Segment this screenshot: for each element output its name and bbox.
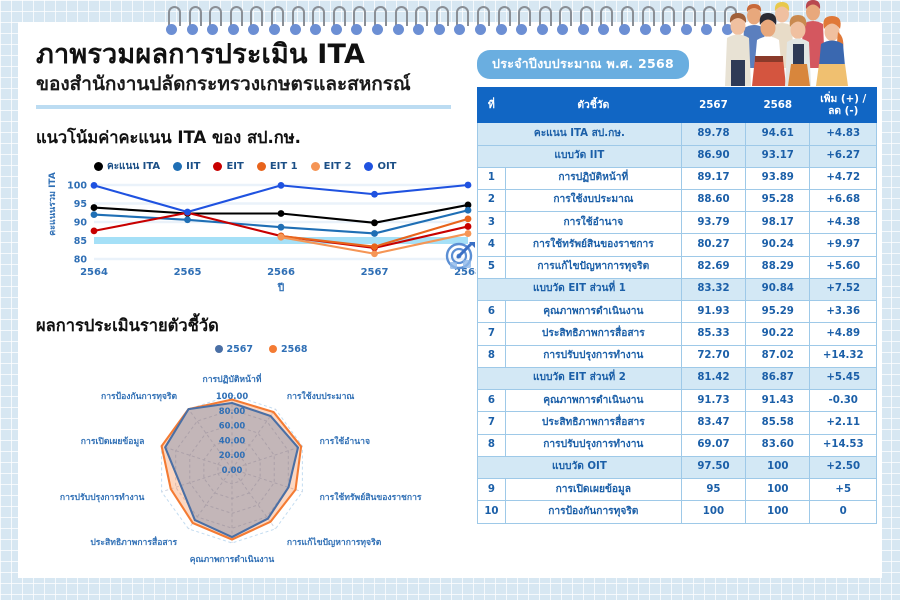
spiral-coil [618,0,639,40]
table-row[interactable]: 1การปฏิบัติหน้าที่89.1793.89+4.72 [478,167,877,189]
spiral-coil [556,0,577,40]
spiral-binding [165,0,745,40]
row-value-2568: 90.24 [746,234,810,256]
radar-axis-label: การใช้อำนาจ [320,436,370,447]
row-number: 1 [478,167,506,189]
y-tick-label: 100 [67,181,87,192]
row-value-2567: 80.27 [681,234,745,256]
row-value-2567: 85.33 [681,323,745,345]
legend-label: 2568 [281,344,307,355]
spiral-coil [165,0,186,40]
radar-axis-label: ประสิทธิภาพการสื่อสาร [90,535,177,548]
spiral-coil [186,0,207,40]
table-row[interactable]: แบบวัด EIT ส่วนที่ 183.3290.84+7.52 [478,278,877,300]
y-tick-label: 85 [74,236,87,247]
table-row[interactable]: แบบวัด EIT ส่วนที่ 281.4286.87+5.45 [478,367,877,389]
row-value-2567: 95 [681,479,745,501]
row-value-2568: 95.28 [746,189,810,211]
table-row[interactable]: คะแนน ITA สป.กษ.89.7894.61+4.83 [478,123,877,145]
row-value-2567: 69.07 [681,434,745,456]
row-value-diff: +5.60 [810,256,877,278]
row-number: 5 [478,256,506,278]
data-point [465,216,472,223]
row-indicator-name: แบบวัด EIT ส่วนที่ 2 [478,367,682,389]
row-value-2568: 87.02 [746,345,810,367]
spiral-coil [495,0,516,40]
line-chart-legend: คะแนน ITAIITEITEIT 1EIT 2OIT [36,157,476,175]
row-value-2567: 100 [681,501,745,523]
radar-axis-label: การป้องกันการทุจริต [101,391,177,402]
row-indicator-name: การแก้ไขปัญหาการทุจริต [505,256,681,278]
column-header-2567: 2567 [681,88,745,123]
legend-swatch [215,345,223,353]
row-value-2568: 100 [746,456,810,478]
diff-label-line2: ลด (-) [828,105,858,117]
radar-axis-label: การใช้ทรัพย์สินของราชการ [320,492,422,503]
legend-item-EIT-1[interactable]: EIT 1 [257,161,298,172]
column-header-2568: 2568 [746,88,810,123]
diff-label-line1: เพิ่ม (+) / [820,93,866,105]
legend-swatch [311,162,320,171]
data-point [465,223,472,230]
row-value-2567: 83.47 [681,412,745,434]
row-value-2568: 91.43 [746,390,810,412]
data-point [465,230,472,237]
data-point [371,243,378,250]
row-value-2567: 97.50 [681,456,745,478]
legend-item-OIT[interactable]: OIT [364,161,396,172]
row-indicator-name: การปรับปรุงการทำงาน [505,434,681,456]
spiral-coil [659,0,680,40]
data-point [91,228,98,235]
legend-label: คะแนน ITA [107,159,160,174]
row-value-2568: 100 [746,501,810,523]
row-indicator-name: แบบวัด OIT [478,456,682,478]
data-point [91,204,98,211]
spiral-coil [433,0,454,40]
spiral-coil [247,0,268,40]
row-number: 9 [478,479,506,501]
radar-axis-label: การใช้งบประมาณ [287,391,355,402]
row-value-2568: 90.22 [746,323,810,345]
row-value-2568: 93.17 [746,145,810,167]
data-point [278,224,285,231]
row-number: 8 [478,434,506,456]
data-point [371,250,378,257]
spiral-coil [515,0,536,40]
row-indicator-name: คุณภาพการดำเนินงาน [505,390,681,412]
row-indicator-name: การใช้อำนาจ [505,212,681,234]
radar-tick-label: 100.00 [216,391,248,401]
legend-swatch [364,162,373,171]
row-value-2567: 72.70 [681,345,745,367]
row-indicator-name: แบบวัด EIT ส่วนที่ 1 [478,278,682,300]
row-value-2567: 91.73 [681,390,745,412]
row-value-2568: 98.17 [746,212,810,234]
y-tick-label: 80 [74,255,88,266]
spiral-coil [330,0,351,40]
table-row[interactable]: 10การป้องกันการทุจริต1001000 [478,501,877,523]
row-value-diff: +4.89 [810,323,877,345]
spiral-coil [350,0,371,40]
spiral-coil [700,0,721,40]
radar-tick-label: 20.00 [219,450,246,460]
spiral-coil [474,0,495,40]
x-tick-label: 2564 [80,267,108,278]
radar-tick-label: 0.00 [222,465,243,475]
radar-tick-label: 60.00 [219,421,246,431]
spiral-coil [536,0,557,40]
table-row[interactable]: 2การใช้งบประมาณ88.6095.28+6.68 [478,189,877,211]
row-value-2567: 88.60 [681,189,745,211]
legend-swatch [94,162,103,171]
table-row[interactable]: 7ประสิทธิภาพการสื่อสาร85.3390.22+4.89 [478,323,877,345]
data-point [278,182,285,189]
row-value-2567: 89.78 [681,123,745,145]
row-value-2568: 86.87 [746,367,810,389]
data-point [465,182,472,189]
radar-axis-label: คุณภาพการดำเนินงาน [190,554,275,565]
radar-axis-label: การปรับปรุงการทำงาน [60,492,145,503]
radar-chart-heading: ผลการประเมินรายตัวชี้วัด [36,313,476,339]
row-value-diff: +4.38 [810,212,877,234]
row-value-diff: +4.83 [810,123,877,145]
line-series-OIT [94,185,468,212]
fiscal-year-badge: ประจำปีงบประมาณ พ.ศ. 2568 [477,50,689,79]
data-point [371,191,378,198]
title-divider [36,105,451,109]
row-value-2567: 82.69 [681,256,745,278]
legend-item-EIT-2[interactable]: EIT 2 [311,161,352,172]
row-value-diff: +6.27 [810,145,877,167]
row-value-2567: 86.90 [681,145,745,167]
spiral-coil [371,0,392,40]
row-value-diff: +3.36 [810,301,877,323]
legend-item-EIT[interactable]: EIT [213,161,243,172]
row-number: 10 [478,501,506,523]
row-indicator-name: คะแนน ITA สป.กษ. [478,123,682,145]
radar-axis-label: การเปิดเผยข้อมูล [81,436,145,447]
row-indicator-name: การใช้ทรัพย์สินของราชการ [505,234,681,256]
row-value-diff: +2.50 [810,456,877,478]
data-point [184,216,191,223]
table-body: คะแนน ITA สป.กษ.89.7894.61+4.83แบบวัด II… [478,123,877,523]
legend-label: 2567 [227,344,253,355]
data-point [371,230,378,237]
spiral-coil [597,0,618,40]
data-point [465,207,472,214]
row-indicator-name: ประสิทธิภาพการสื่อสาร [505,323,681,345]
people-illustration [720,0,890,86]
row-value-2568: 95.29 [746,301,810,323]
spiral-coil [309,0,330,40]
legend-item-คะแนน-ITA[interactable]: คะแนน ITA [94,159,160,174]
spiral-coil [639,0,660,40]
row-value-diff: +2.11 [810,412,877,434]
spiral-coil [577,0,598,40]
table-row[interactable]: 6คุณภาพการดำเนินงาน91.7391.43-0.30 [478,390,877,412]
target-arrow-icon [444,239,478,273]
radar-axis-label: การปฏิบัติหน้าที่ [203,372,262,385]
row-number: 3 [478,212,506,234]
legend-label: EIT 2 [324,161,352,172]
legend-label: EIT 1 [270,161,298,172]
data-point [278,210,285,217]
row-value-diff: +14.32 [810,345,877,367]
data-point [91,182,98,189]
row-value-2568: 100 [746,479,810,501]
line-chart-heading: แนวโน้มค่าคะแนน ITA ของ สป.กษ. [36,125,476,151]
legend-item-IIT[interactable]: IIT [173,161,200,172]
x-tick-label: 2565 [174,267,202,278]
row-value-diff: 0 [810,501,877,523]
table-row[interactable]: แบบวัด IIT86.9093.17+6.27 [478,145,877,167]
y-tick-label: 95 [74,199,87,210]
x-tick-label: 2567 [361,267,389,278]
row-indicator-name: การปรับปรุงการทำงาน [505,345,681,367]
ita-results-table: ที่ ตัวชี้วัด 2567 2568 เพิ่ม (+) / ลด (… [477,87,877,524]
spiral-coil [392,0,413,40]
row-value-2567: 81.42 [681,367,745,389]
spiral-coil [289,0,310,40]
spiral-coil [268,0,289,40]
legend-label: EIT [226,161,243,172]
table-row[interactable]: 9การเปิดเผยข้อมูล95100+5 [478,479,877,501]
row-value-2567: 89.17 [681,167,745,189]
row-indicator-name: การป้องกันการทุจริต [505,501,681,523]
row-value-diff: +4.72 [810,167,877,189]
row-value-2568: 90.84 [746,278,810,300]
y-tick-label: 90 [74,218,88,229]
row-number: 7 [478,412,506,434]
table-row[interactable]: 8การปรับปรุงการทำงาน69.0783.60+14.53 [478,434,877,456]
row-value-2568: 88.29 [746,256,810,278]
table-row[interactable]: 7ประสิทธิภาพการสื่อสาร83.4785.58+2.11 [478,412,877,434]
spiral-coil [227,0,248,40]
data-point [371,219,378,226]
row-value-2567: 83.32 [681,278,745,300]
row-value-diff: +7.52 [810,278,877,300]
column-header-indicator: ตัวชี้วัด [505,88,681,123]
right-column: ประจำปีงบประมาณ พ.ศ. 2568 ที่ ตัวชี้วัด … [477,50,877,524]
radar-chart: 25672568 0.0020.0040.0060.0080.00100.00ก… [36,341,476,586]
row-value-diff: +6.68 [810,189,877,211]
row-indicator-name: การเปิดเผยข้อมูล [505,479,681,501]
row-number: 7 [478,323,506,345]
spiral-coil [453,0,474,40]
row-value-2568: 93.89 [746,167,810,189]
radar-legend-item-2568[interactable]: 2568 [269,344,307,355]
row-indicator-name: คุณภาพการดำเนินงาน [505,301,681,323]
row-value-2567: 91.93 [681,301,745,323]
table-header-row: ที่ ตัวชี้วัด 2567 2568 เพิ่ม (+) / ลด (… [478,88,877,123]
radar-tick-label: 80.00 [219,406,246,416]
row-value-diff: +9.97 [810,234,877,256]
line-chart: คะแนน ITAIITEITEIT 1EIT 2OIT คะแนนรวม IT… [36,157,476,297]
row-indicator-name: การปฏิบัติหน้าที่ [505,167,681,189]
legend-swatch [173,162,182,171]
row-value-diff: +5.45 [810,367,877,389]
line-chart-ylabel: คะแนนรวม ITA [45,172,59,236]
row-value-2568: 83.60 [746,434,810,456]
table-row[interactable]: แบบวัด OIT97.50100+2.50 [478,456,877,478]
legend-swatch [257,162,266,171]
row-value-diff: +14.53 [810,434,877,456]
row-number: 8 [478,345,506,367]
data-point [278,234,285,241]
table-row[interactable]: 4การใช้ทรัพย์สินของราชการ80.2790.24+9.97 [478,234,877,256]
radar-chart-legend: 25672568 [36,341,476,357]
left-column: ภาพรวมผลการประเมิน ITA ของสำนักงานปลัดกร… [36,40,476,570]
row-number: 2 [478,189,506,211]
row-value-diff: +5 [810,479,877,501]
page-subtitle: ของสำนักงานปลัดกระทรวงเกษตรและสหกรณ์ [36,73,476,96]
radar-axis-label: การแก้ไขปัญหาการทุจริต [287,537,382,548]
legend-label: OIT [377,161,396,172]
data-point [91,211,98,218]
row-indicator-name: การใช้งบประมาณ [505,189,681,211]
row-value-diff: -0.30 [810,390,877,412]
row-number: 6 [478,390,506,412]
row-value-2568: 85.58 [746,412,810,434]
table-row[interactable]: 3การใช้อำนาจ93.7998.17+4.38 [478,212,877,234]
spiral-coil [412,0,433,40]
table-row[interactable]: 5การแก้ไขปัญหาการทุจริต82.6988.29+5.60 [478,256,877,278]
table-row[interactable]: 6คุณภาพการดำเนินงาน91.9395.29+3.36 [478,301,877,323]
radar-tick-label: 40.00 [219,435,246,445]
column-header-no: ที่ [478,88,506,123]
radar-legend-item-2567[interactable]: 2567 [215,344,253,355]
data-point [184,209,191,216]
row-number: 6 [478,301,506,323]
legend-swatch [213,162,222,171]
table-row[interactable]: 8การปรับปรุงการทำงาน72.7087.02+14.32 [478,345,877,367]
legend-label: IIT [186,161,200,172]
spiral-coil [680,0,701,40]
page-title: ภาพรวมผลการประเมิน ITA [36,40,476,70]
spiral-coil [206,0,227,40]
row-indicator-name: ประสิทธิภาพการสื่อสาร [505,412,681,434]
row-number: 4 [478,234,506,256]
row-value-2568: 94.61 [746,123,810,145]
x-tick-label: 2566 [267,267,295,278]
row-indicator-name: แบบวัด IIT [478,145,682,167]
legend-swatch [269,345,277,353]
row-value-2567: 93.79 [681,212,745,234]
x-axis-label: ปี [277,282,284,294]
column-header-diff: เพิ่ม (+) / ลด (-) [810,88,877,123]
